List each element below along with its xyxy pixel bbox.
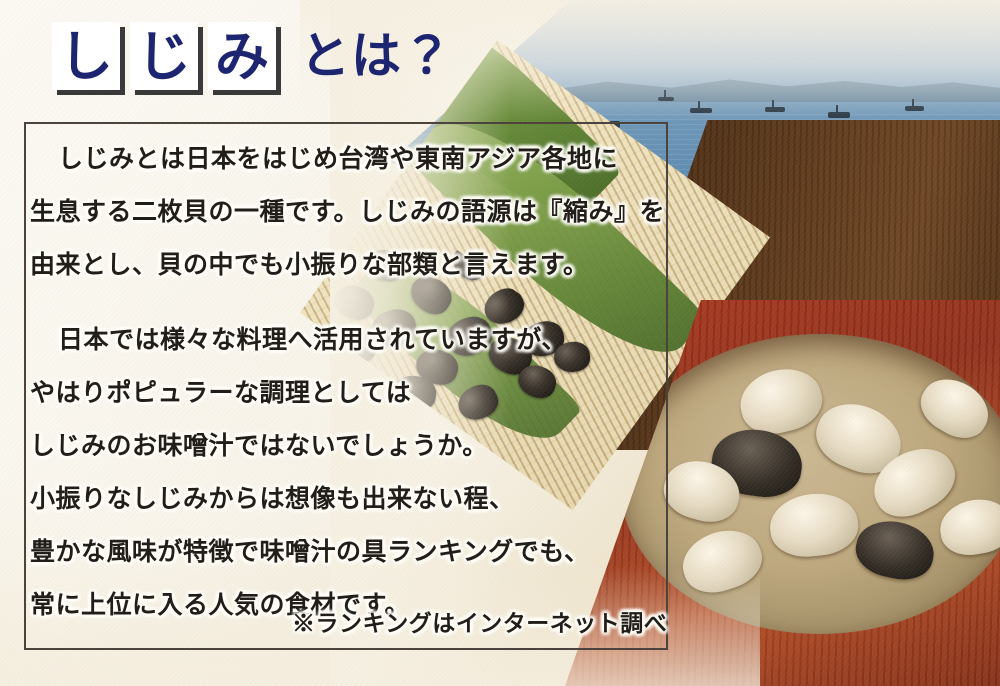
title-char-box-2: じ bbox=[130, 22, 198, 90]
paragraph-2-line-1: 日本では様々な料理へ活用されていますが、 bbox=[30, 313, 690, 366]
page-title: し じ み とは？ bbox=[52, 16, 453, 90]
paragraph-1-line-1: しじみとは日本をはじめ台湾や東南アジア各地に bbox=[30, 132, 690, 185]
paragraph-1: しじみとは日本をはじめ台湾や東南アジア各地に 生息する二枚貝の一種です。しじみの… bbox=[30, 132, 690, 291]
paragraph-1-line-2: 生息する二枚貝の一種です。しじみの語源は『縮み』を bbox=[30, 185, 690, 238]
clam-shell bbox=[851, 515, 939, 586]
footnote: ※ランキングはインターネット調べ bbox=[292, 604, 667, 638]
clam-shell bbox=[767, 490, 861, 561]
clam-shell bbox=[912, 368, 999, 448]
paragraph-2-line-4: 小振りなしじみからは想像も出来ない程、 bbox=[30, 472, 690, 525]
paragraph-2: 日本では様々な料理へ活用されていますが、 やはりポピュラーな調理としては しじみ… bbox=[30, 313, 690, 631]
title-suffix: とは？ bbox=[300, 16, 453, 88]
poster-canvas: し じ み とは？ しじみとは日本をはじめ台湾や東南アジア各地に 生息する二枚貝… bbox=[0, 0, 1000, 686]
paragraph-2-line-5: 豊かな風味が特徴で味噌汁の具ランキングでも、 bbox=[30, 525, 690, 578]
body-text: しじみとは日本をはじめ台湾や東南アジア各地に 生息する二枚貝の一種です。しじみの… bbox=[30, 132, 690, 653]
paragraph-2-line-3: しじみのお味噌汁ではないでしょうか。 bbox=[30, 419, 690, 472]
paragraph-1-line-3: 由来とし、貝の中でも小振りな部類と言えます。 bbox=[30, 238, 690, 291]
title-char-box-3: み bbox=[208, 22, 276, 90]
paragraph-2-line-2: やはりポピュラーな調理としては bbox=[30, 366, 690, 419]
title-char-box-1: し bbox=[52, 22, 120, 90]
clam-shell bbox=[936, 494, 1000, 560]
